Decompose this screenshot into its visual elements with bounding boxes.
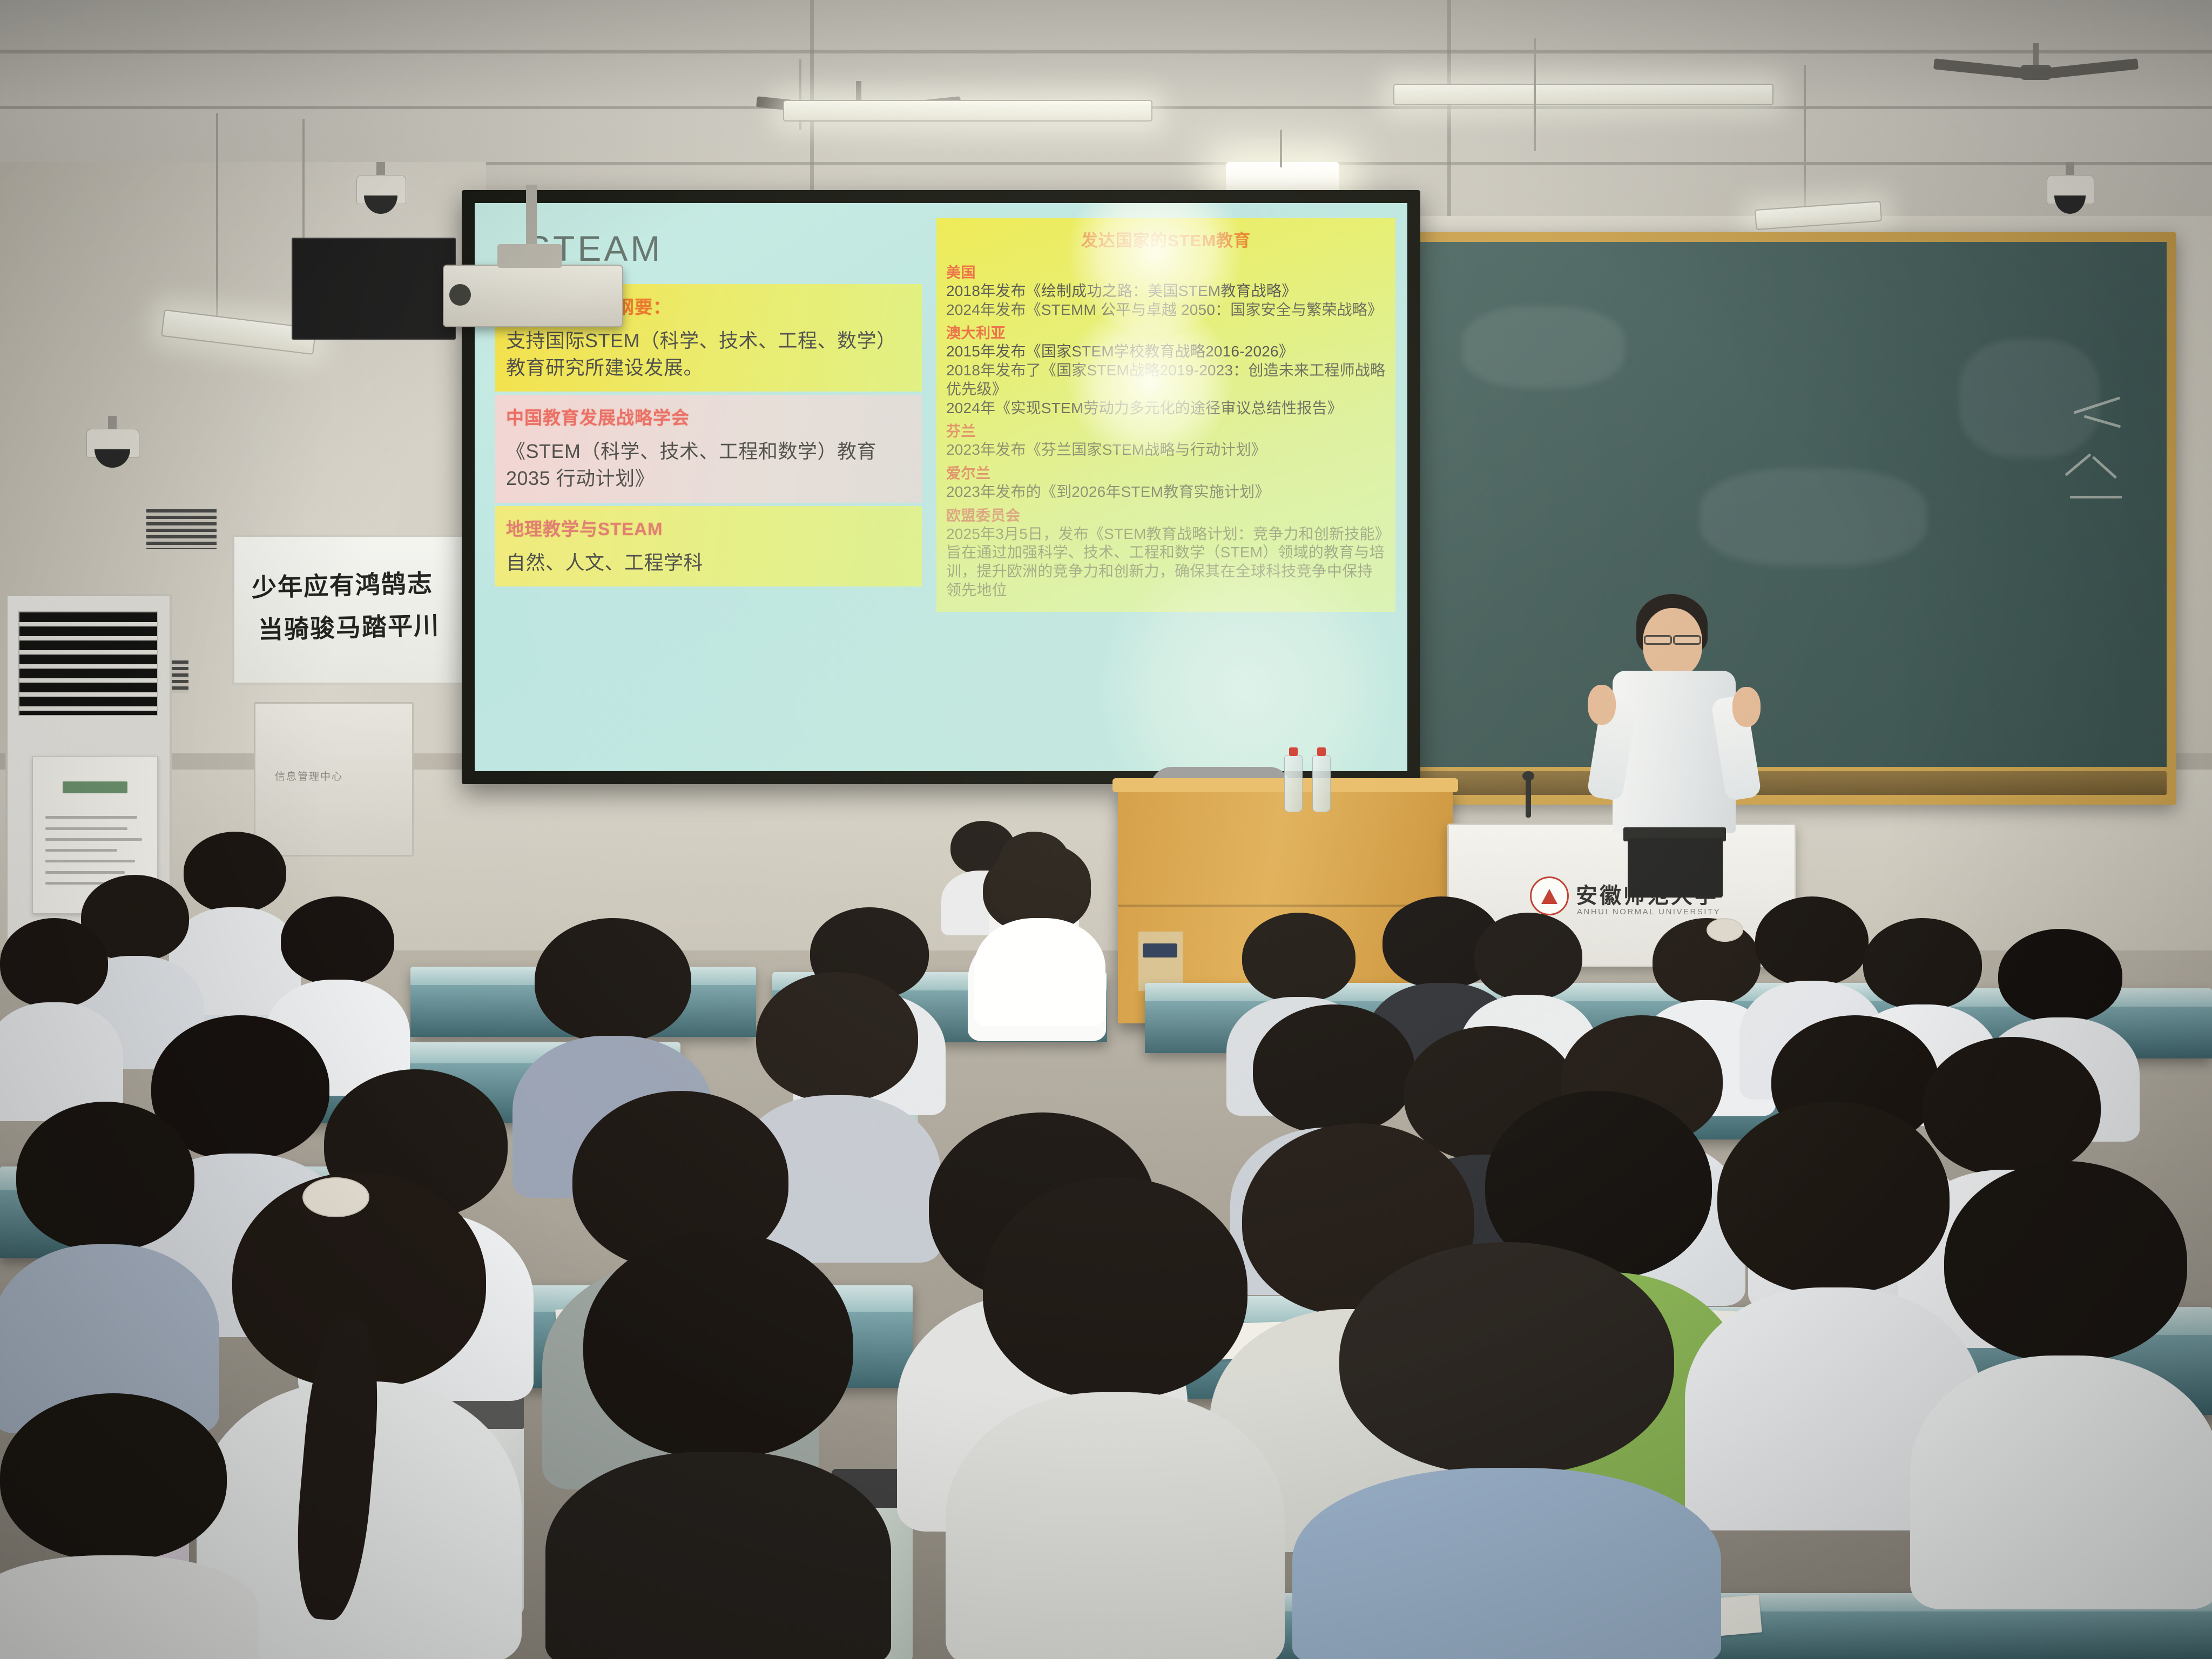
light-hanger bbox=[1534, 38, 1536, 151]
ac-vent-grill bbox=[18, 611, 158, 716]
presenter-shirt bbox=[1613, 671, 1736, 833]
country-name-australia: 澳大利亚 bbox=[946, 321, 1386, 342]
whiteboard-calligraphy: 少年应有鸿鹄志 当骑骏马踏平川 bbox=[232, 535, 480, 685]
country-name-eu: 欧盟委员会 bbox=[946, 504, 1386, 525]
university-logo-icon bbox=[1530, 876, 1569, 915]
audience-member bbox=[184, 832, 286, 1010]
calligraphy-line-1: 少年应有鸿鹄志 bbox=[251, 568, 433, 604]
fluorescent-tube-light bbox=[1393, 84, 1773, 105]
ceiling-seam bbox=[0, 50, 2212, 53]
audience-member bbox=[983, 1177, 1247, 1659]
country-line: 2015年发布《国家STEM学校教育战略2016-2026》 bbox=[946, 342, 1386, 361]
light-hanger bbox=[216, 113, 218, 329]
presenter-hand-right bbox=[1732, 687, 1761, 727]
water-bottle bbox=[1312, 755, 1331, 812]
lecture-hall-photo: 少年应有鸿鹄志 当骑骏马踏平川 信息管理中心 STEAM bbox=[0, 0, 2212, 1659]
ceiling-projector bbox=[443, 265, 623, 327]
country-line: 2025年3月5日，发布《STEM教育战略计划：竞争力和创新技能》旨在通过加强科… bbox=[946, 525, 1386, 600]
blackboard-surface bbox=[1419, 242, 2167, 767]
eyeglasses-icon bbox=[1644, 635, 1672, 645]
country-name-finland: 芬兰 bbox=[946, 420, 1386, 441]
country-name-usa: 美国 bbox=[946, 261, 1386, 282]
presenter-trousers bbox=[1628, 838, 1723, 898]
cabinet-label: 信息管理中心 bbox=[275, 768, 343, 783]
country-name-ireland: 爱尔兰 bbox=[946, 462, 1386, 483]
audience-member bbox=[1944, 1161, 2187, 1604]
card-body: 自然、人文、工程学科 bbox=[506, 549, 911, 576]
slide-card-strategy-society: 中国教育发展战略学会 《STEM（科学、技术、工程和数学）教育2035 行动计划… bbox=[495, 395, 922, 502]
podium-sticker bbox=[1143, 943, 1177, 957]
eyeglasses-icon bbox=[1673, 635, 1701, 645]
audience-member bbox=[988, 842, 1091, 1021]
security-camera-icon bbox=[2047, 162, 2093, 214]
presenter-hand-left bbox=[1588, 685, 1616, 725]
card-body: 支持国际STEM（科学、技术、工程、数学）教育研究所建设发展。 bbox=[506, 327, 911, 381]
hair-scrunchie bbox=[1707, 918, 1743, 942]
wall-vent bbox=[145, 508, 218, 551]
card-body: 《STEM（科学、技术、工程和数学）教育2035 行动计划》 bbox=[506, 438, 911, 491]
university-name-en: ANHUI NORMAL UNIVERSITY bbox=[1577, 907, 1721, 916]
wall-speaker bbox=[292, 238, 456, 340]
calligraphy-line-2: 当骑骏马踏平川 bbox=[258, 610, 440, 646]
country-line: 2024年《实现STEM劳动力多元化的途径审议总结性报告》 bbox=[946, 399, 1386, 418]
country-line: 2023年发布的《到2026年STEM教育实施计划》 bbox=[946, 483, 1386, 502]
slide-card-geography-steam: 地理教学与STEAM 自然、人文、工程学科 bbox=[495, 506, 922, 587]
developed-countries-stem-box: 发达国家的STEM教育 美国 2018年发布《绘制成功之路：美国STEM教育战略… bbox=[936, 218, 1395, 612]
hair-scrunchie bbox=[302, 1177, 369, 1217]
podium-tape-patch bbox=[1138, 932, 1183, 991]
audience-member bbox=[16, 1102, 194, 1426]
ceiling-fan bbox=[1923, 43, 2149, 86]
blackboard bbox=[1410, 232, 2176, 805]
presenter bbox=[1582, 594, 1766, 896]
audience-member bbox=[0, 1393, 227, 1659]
security-camera-icon bbox=[356, 162, 405, 216]
country-line: 2018年发布《绘制成功之路：美国STEM教育战略》 bbox=[946, 282, 1386, 301]
fluorescent-tube-light bbox=[783, 100, 1152, 122]
security-camera-icon bbox=[86, 416, 138, 472]
country-line: 2024年发布《STEMM 公平与卓越 2050：国家安全与繁荣战略》 bbox=[946, 301, 1386, 320]
audience-member bbox=[583, 1231, 853, 1659]
slide-left-column: 教育强国建设纲要： 支持国际STEM（科学、技术、工程、数学）教育研究所建设发展… bbox=[495, 284, 922, 590]
country-line: 2023年发布《芬兰国家STEM战略与行动计划》 bbox=[946, 441, 1386, 460]
light-hanger bbox=[1804, 65, 1806, 216]
audience-member bbox=[0, 918, 108, 1118]
audience-member bbox=[1339, 1242, 1674, 1659]
country-line: 2018年发布了《国家STEM战略2019-2023：创造未来工程师战略优先级》 bbox=[946, 361, 1386, 399]
slide-right-panel: 发达国家的STEM教育 美国 2018年发布《绘制成功之路：美国STEM教育战略… bbox=[936, 218, 1395, 612]
card-heading: 中国教育发展战略学会 bbox=[506, 403, 911, 429]
right-panel-title: 发达国家的STEM教育 bbox=[946, 227, 1386, 251]
card-heading: 地理教学与STEAM bbox=[506, 515, 911, 541]
light-hanger bbox=[1280, 130, 1282, 167]
microphone bbox=[1526, 778, 1531, 818]
water-bottle bbox=[1284, 755, 1303, 812]
